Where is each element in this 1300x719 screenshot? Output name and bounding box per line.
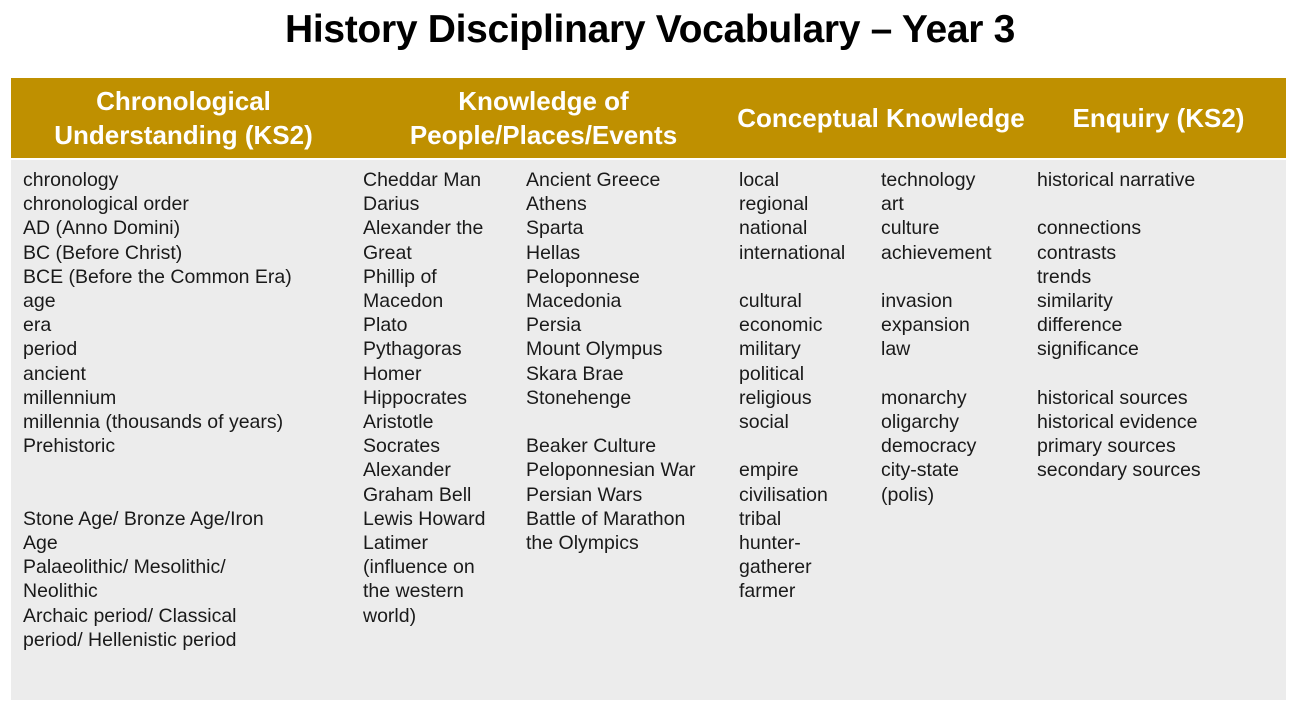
word-spacer (1037, 362, 1201, 386)
word-item: (polis) (881, 483, 1031, 507)
word-item: Cheddar Man (363, 168, 521, 192)
word-item: contrasts (1037, 241, 1201, 265)
word-item: Neolithic (23, 579, 292, 603)
word-item: Age (23, 531, 292, 555)
vocabulary-table: Chronological Understanding (KS2) Knowle… (11, 78, 1286, 700)
word-item: achievement (881, 241, 1031, 265)
word-item: significance (1037, 337, 1201, 361)
word-item: Stonehenge (526, 386, 731, 410)
word-item: Hellas (526, 241, 731, 265)
word-list-conceptual-a: localregionalnationalinternationalcultur… (739, 168, 873, 604)
subcolumn-conceptual-b: technologyartcultureachievementinvasione… (873, 168, 1031, 507)
word-item: Socrates (363, 434, 521, 458)
word-item: primary sources (1037, 434, 1201, 458)
word-item: farmer (739, 579, 873, 603)
word-item: difference (1037, 313, 1201, 337)
word-item: social (739, 410, 873, 434)
word-item: Athens (526, 192, 731, 216)
word-item: Aristotle (363, 410, 521, 434)
word-item: Macedonia (526, 289, 731, 313)
table-body-row: chronologychronological orderAD (Anno Do… (11, 160, 1286, 700)
word-item: Stone Age/ Bronze Age/Iron (23, 507, 292, 531)
word-item: civilisation (739, 483, 873, 507)
word-item: Battle of Marathon (526, 507, 731, 531)
word-item: trends (1037, 265, 1201, 289)
word-item: ancient (23, 362, 292, 386)
word-item: Palaeolithic/ Mesolithic/ (23, 555, 292, 579)
word-item: invasion (881, 289, 1031, 313)
subcolumn-people: Cheddar ManDariusAlexander theGreatPhill… (356, 168, 521, 628)
word-item: secondary sources (1037, 458, 1201, 482)
word-item: (influence on (363, 555, 521, 579)
word-spacer (739, 265, 873, 289)
word-spacer (881, 265, 1031, 289)
vocabulary-page: History Disciplinary Vocabulary – Year 3… (0, 0, 1300, 719)
word-list-conceptual-b: technologyartcultureachievementinvasione… (881, 168, 1031, 507)
word-item: regional (739, 192, 873, 216)
word-item: Hippocrates (363, 386, 521, 410)
word-item: Homer (363, 362, 521, 386)
word-item: Pythagoras (363, 337, 521, 361)
word-item: historical narrative (1037, 168, 1201, 192)
subcolumn-conceptual-a: localregionalnationalinternationalcultur… (731, 168, 873, 604)
word-item: oligarchy (881, 410, 1031, 434)
word-item: the Olympics (526, 531, 731, 555)
word-spacer (23, 483, 292, 507)
word-item: international (739, 241, 873, 265)
column-chronological-understanding: chronologychronological orderAD (Anno Do… (11, 168, 356, 652)
word-item: period/ Hellenistic period (23, 628, 292, 652)
word-spacer (739, 434, 873, 458)
word-item: Graham Bell (363, 483, 521, 507)
column-header-chronological-understanding: Chronological Understanding (KS2) (11, 84, 356, 153)
word-list-chronological-understanding: chronologychronological orderAD (Anno Do… (23, 168, 292, 652)
word-item: Beaker Culture (526, 434, 731, 458)
page-title: History Disciplinary Vocabulary – Year 3 (0, 6, 1300, 55)
word-item: tribal (739, 507, 873, 531)
word-item: millennium (23, 386, 292, 410)
column-conceptual-knowledge: localregionalnationalinternationalcultur… (731, 168, 1031, 604)
word-item: local (739, 168, 873, 192)
word-item: Alexander the (363, 216, 521, 240)
word-item: Persian Wars (526, 483, 731, 507)
word-item: Phillip of (363, 265, 521, 289)
word-item: chronological order (23, 192, 292, 216)
word-item: national (739, 216, 873, 240)
word-spacer (526, 410, 731, 434)
word-item: the western (363, 579, 521, 603)
word-item: cultural (739, 289, 873, 313)
word-spacer (23, 458, 292, 482)
word-item: Ancient Greece (526, 168, 731, 192)
word-item: culture (881, 216, 1031, 240)
column-knowledge-people-places-events: Cheddar ManDariusAlexander theGreatPhill… (356, 168, 731, 628)
word-item: Sparta (526, 216, 731, 240)
word-item: period (23, 337, 292, 361)
word-item: city-state (881, 458, 1031, 482)
word-item: connections (1037, 216, 1201, 240)
word-item: religious (739, 386, 873, 410)
word-item: Peloponnesian War (526, 458, 731, 482)
word-item: chronology (23, 168, 292, 192)
word-item: historical sources (1037, 386, 1201, 410)
word-item: world) (363, 604, 521, 628)
word-item: Lewis Howard (363, 507, 521, 531)
word-item: hunter- (739, 531, 873, 555)
word-item: Mount Olympus (526, 337, 731, 361)
word-item: military (739, 337, 873, 361)
word-item: empire (739, 458, 873, 482)
table-header-row: Chronological Understanding (KS2) Knowle… (11, 78, 1286, 160)
word-list-people: Cheddar ManDariusAlexander theGreatPhill… (363, 168, 521, 628)
subcolumn-places-events: Ancient GreeceAthensSpartaHellasPeloponn… (521, 168, 731, 555)
word-item: era (23, 313, 292, 337)
column-enquiry: historical narrativeconnectionscontrasts… (1031, 168, 1286, 483)
column-header-knowledge-people-places-events: Knowledge of People/Places/Events (356, 84, 731, 153)
word-item: Latimer (363, 531, 521, 555)
column-header-enquiry: Enquiry (KS2) (1031, 101, 1286, 135)
word-item: Plato (363, 313, 521, 337)
word-item: BCE (Before the Common Era) (23, 265, 292, 289)
word-item: democracy (881, 434, 1031, 458)
word-item: Persia (526, 313, 731, 337)
word-item: art (881, 192, 1031, 216)
word-list-places-events: Ancient GreeceAthensSpartaHellasPeloponn… (526, 168, 731, 555)
word-item: Archaic period/ Classical (23, 604, 292, 628)
word-item: Great (363, 241, 521, 265)
word-item: Macedon (363, 289, 521, 313)
word-item: gatherer (739, 555, 873, 579)
word-item: political (739, 362, 873, 386)
word-item: Peloponnese (526, 265, 731, 289)
word-item: economic (739, 313, 873, 337)
word-item: Prehistoric (23, 434, 292, 458)
column-header-conceptual-knowledge: Conceptual Knowledge (731, 101, 1031, 135)
word-item: similarity (1037, 289, 1201, 313)
word-item: BC (Before Christ) (23, 241, 292, 265)
word-item: historical evidence (1037, 410, 1201, 434)
word-item: expansion (881, 313, 1031, 337)
word-item: age (23, 289, 292, 313)
word-item: Alexander (363, 458, 521, 482)
word-item: AD (Anno Domini) (23, 216, 292, 240)
word-item: law (881, 337, 1031, 361)
word-item: millennia (thousands of years) (23, 410, 292, 434)
word-spacer (1037, 192, 1201, 216)
word-spacer (881, 362, 1031, 386)
word-item: monarchy (881, 386, 1031, 410)
word-item: technology (881, 168, 1031, 192)
word-item: Skara Brae (526, 362, 731, 386)
word-item: Darius (363, 192, 521, 216)
word-list-enquiry: historical narrativeconnectionscontrasts… (1037, 168, 1201, 483)
